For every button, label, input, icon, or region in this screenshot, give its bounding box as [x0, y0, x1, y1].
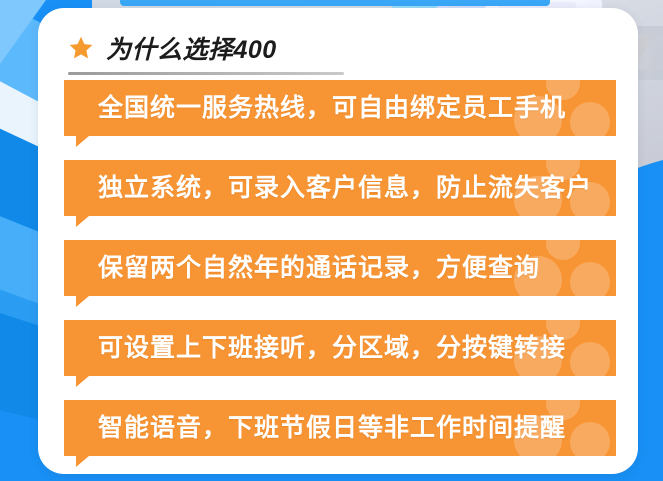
feature-banner: 智能语音，下班节假日等非工作时间提醒 — [64, 400, 616, 456]
list-item[interactable]: 可设置上下班接听，分区域，分按键转接 — [64, 320, 616, 376]
card-header: 为什么选择400 — [68, 22, 398, 74]
feature-text: 独立系统，可录入客户信息，防止流失客户 — [64, 160, 616, 216]
feature-banner: 全国统一服务热线，可自由绑定员工手机 — [64, 80, 616, 136]
background-top-strip — [120, 0, 550, 6]
title-underline — [68, 72, 344, 75]
feature-text: 保留两个自然年的通话记录，方便查询 — [64, 240, 616, 296]
banner-tail — [76, 296, 89, 307]
list-item[interactable]: 独立系统，可录入客户信息，防止流失客户 — [64, 160, 616, 216]
list-item[interactable]: 保留两个自然年的通话记录，方便查询 — [64, 240, 616, 296]
list-item[interactable]: 智能语音，下班节假日等非工作时间提醒 — [64, 400, 616, 456]
banner-tail — [76, 136, 89, 147]
list-item[interactable]: 全国统一服务热线，可自由绑定员工手机 — [64, 80, 616, 136]
banner-tail — [76, 456, 89, 467]
feature-banner: 保留两个自然年的通话记录，方便查询 — [64, 240, 616, 296]
poster-canvas: 为什么选择400 全国统一服务热线，可自由绑定员工手机 独立系统，可录入客户 — [0, 0, 663, 481]
feature-text: 智能语音，下班节假日等非工作时间提醒 — [64, 400, 616, 456]
feature-banner: 独立系统，可录入客户信息，防止流失客户 — [64, 160, 616, 216]
star-icon — [68, 35, 94, 61]
feature-banner: 可设置上下班接听，分区域，分按键转接 — [64, 320, 616, 376]
feature-text: 全国统一服务热线，可自由绑定员工手机 — [64, 80, 616, 136]
feature-list: 全国统一服务热线，可自由绑定员工手机 独立系统，可录入客户信息，防止流失客户 — [64, 80, 616, 480]
page-title: 为什么选择400 — [106, 30, 277, 66]
content-card: 为什么选择400 全国统一服务热线，可自由绑定员工手机 独立系统，可录入客户 — [38, 8, 638, 474]
banner-tail — [76, 376, 89, 387]
banner-tail — [76, 216, 89, 227]
feature-text: 可设置上下班接听，分区域，分按键转接 — [64, 320, 616, 376]
